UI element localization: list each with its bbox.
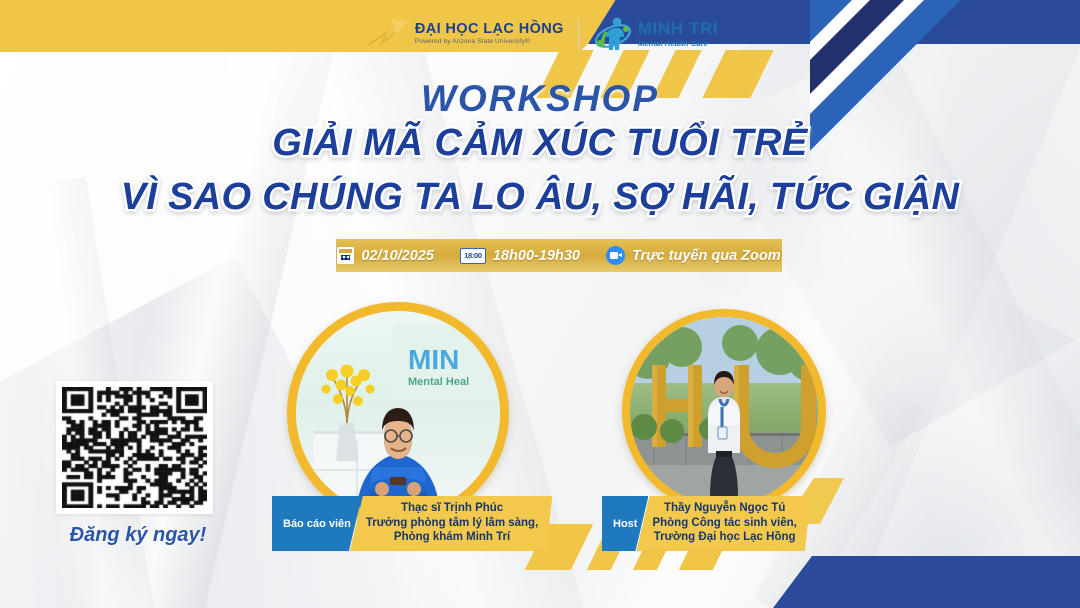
logo-divider (578, 19, 579, 49)
lhu-subtitle: Powered by Arizona State University® (415, 39, 564, 46)
speaker-name-right: Thầy Nguyễn Ngọc Tú (664, 501, 785, 516)
name-plate-left: Báo cáo viên Thạc sĩ Trịnh Phúc Trưởng p… (272, 496, 552, 551)
zoom-camera-icon (606, 246, 625, 265)
info-platform-text: Trực tuyến qua Zoom (632, 248, 781, 264)
name-plate-right: Host Thầy Nguyễn Ngọc Tú Phòng Công tác … (602, 496, 811, 551)
speaker-card-left: MIN Mental Heal (287, 302, 509, 524)
info-platform: Trực tuyến qua Zoom (606, 246, 781, 265)
poster-canvas: ĐẠI HỌC LẠC HỒNG Powered by Arizona Stat… (0, 0, 1080, 608)
speaker-card-right (622, 309, 826, 513)
page-title-line-2: VÌ SAO CHÚNG TA LO ÂU, SỢ HÃI, TỨC GIẬN (0, 176, 1080, 219)
logo-lac-hong: ĐẠI HỌC LẠC HỒNG Powered by Arizona Stat… (362, 15, 564, 53)
logo-row: ĐẠI HỌC LẠC HỒNG Powered by Arizona Stat… (0, 8, 1080, 60)
info-date: 02/10/2025 (337, 247, 434, 264)
event-info-bar: 02/10/2025 18:00 18h00-19h30 Trực tuyến … (336, 239, 782, 272)
qr-code[interactable] (56, 381, 213, 514)
qr-code-image (62, 387, 207, 508)
lhu-name: ĐẠI HỌC LẠC HỒNG (415, 22, 564, 37)
minh-tri-subtitle: Mental Health Care (638, 40, 718, 48)
calendar-icon (337, 247, 354, 264)
minh-tri-people-icon (593, 14, 633, 54)
decoration-bottom-right-navy (770, 556, 1080, 608)
clock-icon: 18:00 (460, 248, 486, 264)
speaker-badge-left: Báo cáo viên (272, 496, 362, 551)
logo-minh-tri: MINH TRI Mental Health Care (593, 14, 718, 54)
registration-caption: Đăng ký ngay! (48, 524, 228, 547)
info-time: 18:00 18h00-19h30 (460, 248, 580, 264)
lhu-star-icon (362, 15, 410, 53)
speaker-org-right: Trường Đại học Lạc Hồng (654, 530, 796, 545)
decoration-bottom-left-chevrons (0, 508, 170, 608)
page-title-line-1: GIẢI MÃ CẢM XÚC TUỔI TRẺ (0, 122, 1080, 165)
photo-left: MIN Mental Heal (296, 311, 500, 515)
speaker-info-left: Thạc sĩ Trịnh Phúc Trưởng phòng tâm lý l… (350, 496, 552, 551)
page-title-kicker: WORKSHOP (0, 78, 1080, 120)
info-time-text: 18h00-19h30 (493, 248, 580, 264)
svg-text:Mental Heal: Mental Heal (408, 376, 469, 388)
svg-text:MIN: MIN (408, 344, 459, 375)
speaker-role-right: Phòng Công tác sinh viên, (652, 516, 796, 531)
speaker-org-left: Phòng khám Minh Trí (394, 530, 510, 545)
speaker-name-left: Thạc sĩ Trịnh Phúc (401, 501, 503, 516)
info-date-text: 02/10/2025 (361, 248, 434, 264)
speaker-info-right: Thầy Nguyễn Ngọc Tú Phòng Công tác sinh … (636, 496, 810, 551)
speaker-role-left: Trưởng phòng tâm lý lâm sàng, (366, 516, 538, 531)
photo-right (630, 317, 818, 505)
minh-tri-name: MINH TRI (638, 20, 718, 37)
